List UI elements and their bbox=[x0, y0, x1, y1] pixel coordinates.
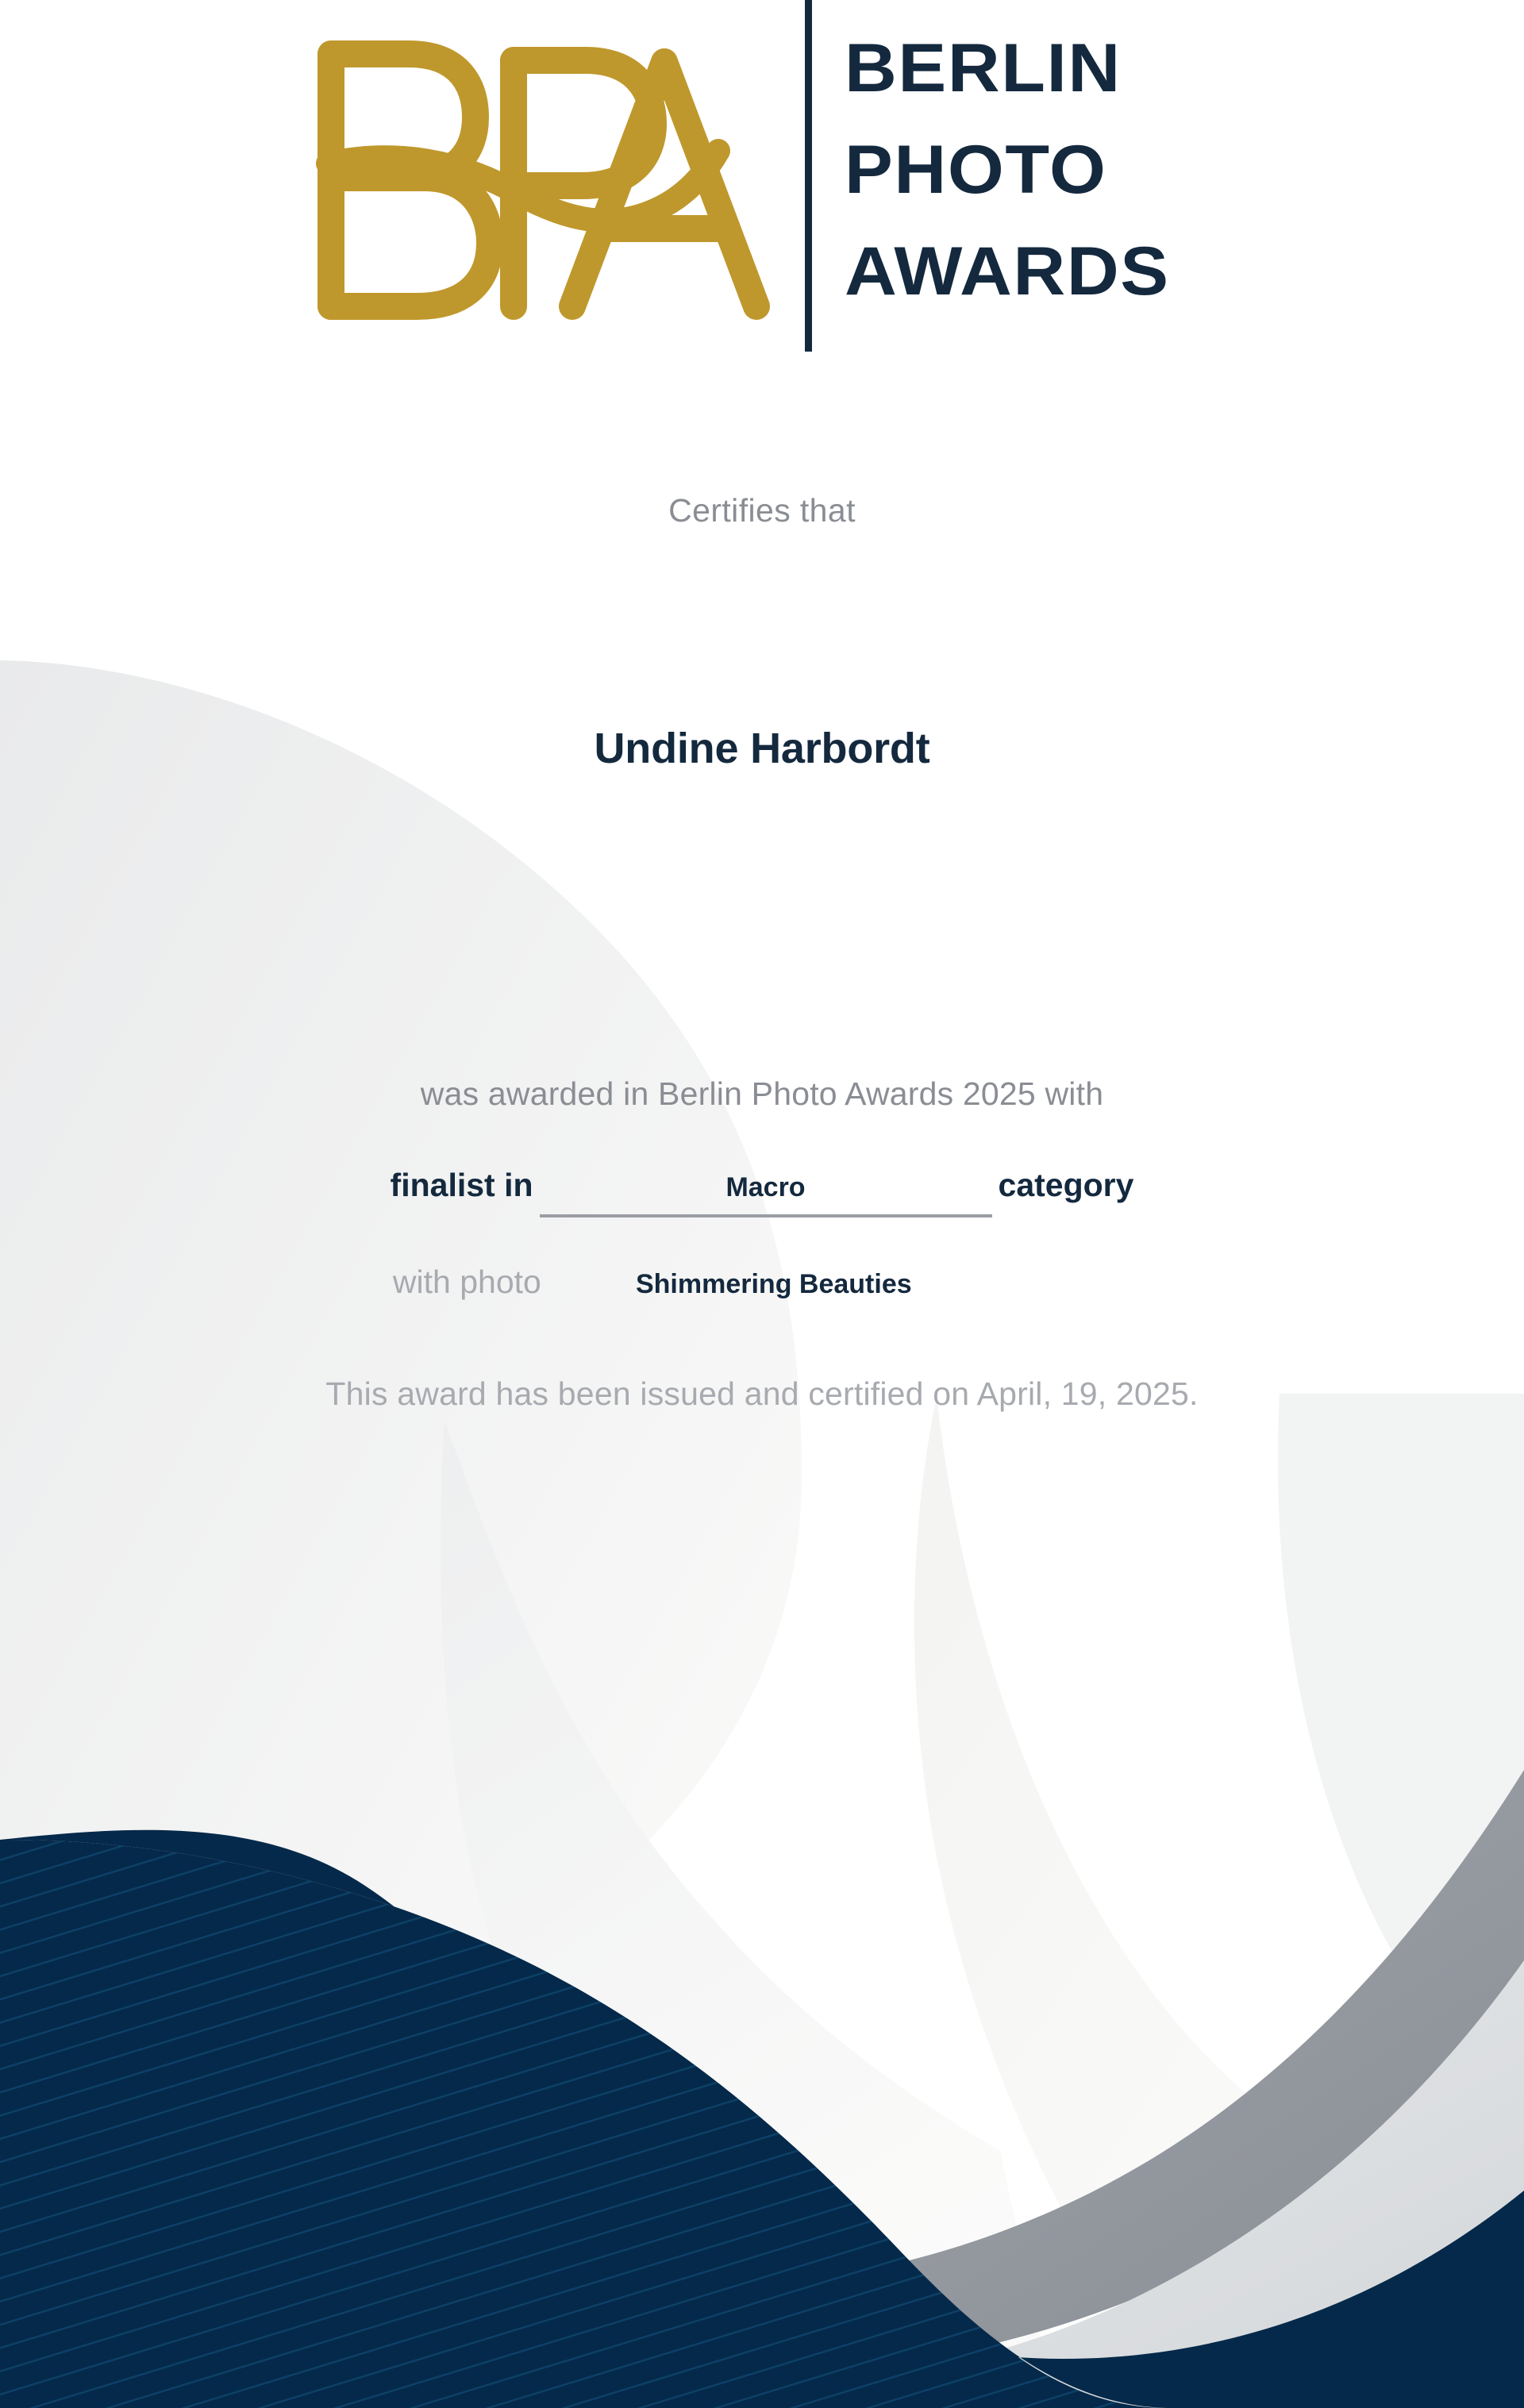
photo-row-spacer: category bbox=[1006, 1264, 1131, 1301]
logo-divider bbox=[805, 0, 812, 352]
wordmark-line-photo: PHOTO bbox=[845, 119, 1316, 221]
category-row: finalist in Macro category bbox=[0, 1167, 1524, 1217]
category-underline bbox=[540, 1214, 992, 1217]
category-field: Macro bbox=[540, 1172, 992, 1217]
photo-title-field: Shimmering Beauties bbox=[548, 1269, 1000, 1300]
issued-certified-statement: This award has been issued and certified… bbox=[0, 1375, 1524, 1413]
category-value: Macro bbox=[540, 1172, 992, 1214]
certificate-page: BERLIN PHOTO AWARDS Certifies that Undin… bbox=[0, 0, 1524, 2408]
certifies-that-label: Certifies that bbox=[0, 492, 1524, 529]
category-word-label: category bbox=[999, 1167, 1134, 1204]
photo-title-value: Shimmering Beauties bbox=[636, 1269, 912, 1299]
with-photo-label: with photo bbox=[393, 1264, 541, 1301]
recipient-name: Undine Harbordt bbox=[0, 724, 1524, 773]
bpa-monogram-icon bbox=[306, 30, 782, 332]
award-rank-label: finalist in bbox=[391, 1167, 533, 1204]
brand-logo: BERLIN PHOTO AWARDS bbox=[0, 0, 1524, 365]
wordmark-line-awards: AWARDS bbox=[845, 221, 1316, 322]
awarded-statement: was awarded in Berlin Photo Awards 2025 … bbox=[0, 1075, 1524, 1113]
logo-wordmark: BERLIN PHOTO AWARDS bbox=[845, 17, 1289, 335]
photo-row: with photo Shimmering Beauties category bbox=[0, 1264, 1524, 1301]
wordmark-line-berlin: BERLIN bbox=[845, 17, 1316, 119]
